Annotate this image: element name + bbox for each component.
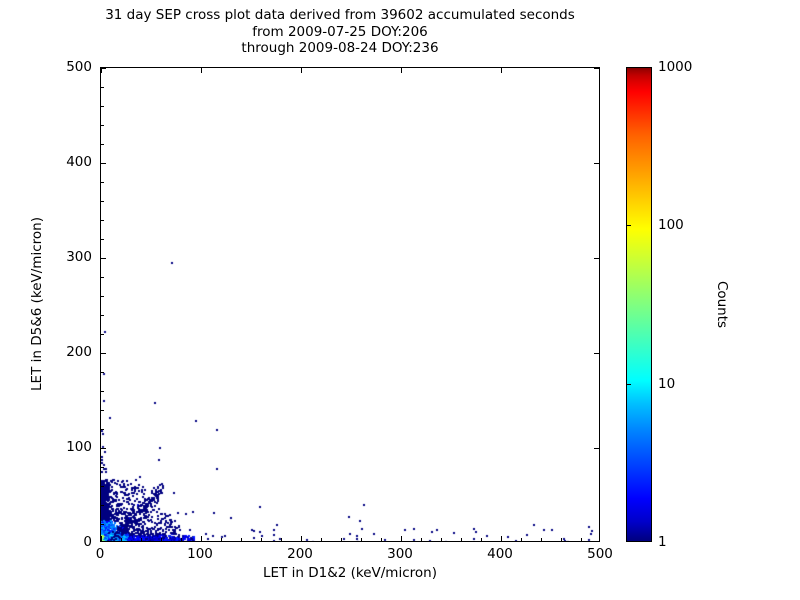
- x-tick-100: [201, 536, 202, 541]
- y-minor-tick: [101, 296, 104, 297]
- chart-title-line-3: through 2009-08-24 DOY:236: [0, 40, 680, 57]
- x-minor-tick: [481, 538, 482, 541]
- x-tick-400: [501, 536, 502, 541]
- y-minor-tick: [101, 315, 104, 316]
- x-tick-200: [301, 536, 302, 541]
- x-minor-tick: [421, 538, 422, 541]
- plot-axes[interactable]: [100, 67, 600, 542]
- x-minor-tick: [241, 538, 242, 541]
- scatter-plot-area: [101, 68, 600, 542]
- y-minor-tick: [101, 277, 104, 278]
- colorbar-tick-label-1000: 1000: [658, 59, 692, 75]
- y-minor-tick: [101, 524, 104, 525]
- colorbar-tick-10: [626, 384, 631, 385]
- chart-title-line-1: 31 day SEP cross plot data derived from …: [0, 7, 680, 24]
- x-minor-tick: [461, 538, 462, 541]
- colorbar-tick-1: [626, 541, 631, 542]
- x-tick-300: [401, 536, 402, 541]
- x-tick-label-500: 500: [587, 546, 613, 562]
- y-tick-100: [101, 448, 106, 449]
- x-tick-top-300: [401, 68, 402, 73]
- y-axis-label: LET in D5&6 (keV/micron): [29, 64, 45, 544]
- x-minor-tick: [321, 538, 322, 541]
- colorbar-tick-label-10: 10: [658, 376, 675, 392]
- x-minor-tick: [261, 538, 262, 541]
- y-minor-tick: [101, 87, 104, 88]
- x-minor-tick: [221, 538, 222, 541]
- y-minor-tick: [101, 201, 104, 202]
- chart-title-line-2: from 2009-07-25 DOY:206: [0, 24, 680, 41]
- y-tick-400: [101, 163, 106, 164]
- y-minor-tick: [101, 467, 104, 468]
- colorbar-label: Counts: [709, 67, 735, 542]
- y-minor-tick: [101, 106, 104, 107]
- colorbar[interactable]: 1101001000: [626, 67, 652, 542]
- x-minor-tick: [441, 538, 442, 541]
- y-minor-tick: [101, 410, 104, 411]
- colorbar-tick-100: [626, 225, 631, 226]
- x-minor-tick: [341, 538, 342, 541]
- y-minor-tick: [101, 220, 104, 221]
- y-minor-tick: [101, 429, 104, 430]
- x-tick-top-400: [501, 68, 502, 73]
- y-tick-right-300: [594, 258, 599, 259]
- x-minor-tick: [521, 538, 522, 541]
- x-minor-tick: [141, 538, 142, 541]
- figure-canvas: 31 day SEP cross plot data derived from …: [0, 0, 800, 600]
- x-tick-0: [101, 536, 102, 541]
- colorbar-tick-label-100: 100: [658, 217, 684, 233]
- y-minor-tick: [101, 334, 104, 335]
- y-tick-right-400: [594, 163, 599, 164]
- colorbar-tick-1000: [626, 67, 631, 68]
- y-minor-tick: [101, 391, 104, 392]
- y-minor-tick: [101, 144, 104, 145]
- x-tick-top-100: [201, 68, 202, 73]
- x-tick-label-100: 100: [187, 546, 213, 562]
- x-minor-tick: [561, 538, 562, 541]
- y-minor-tick: [101, 486, 104, 487]
- y-minor-tick: [101, 239, 104, 240]
- x-minor-tick: [181, 538, 182, 541]
- chart-title: 31 day SEP cross plot data derived from …: [0, 7, 680, 57]
- x-minor-tick: [281, 538, 282, 541]
- x-tick-label-0: 0: [96, 546, 105, 562]
- y-tick-300: [101, 258, 106, 259]
- x-axis-label: LET in D1&2 (keV/micron): [100, 565, 600, 581]
- y-tick-500: [101, 68, 106, 69]
- x-minor-tick: [581, 538, 582, 541]
- x-minor-tick: [361, 538, 362, 541]
- y-tick-right-200: [594, 353, 599, 354]
- colorbar-tick-label-1: 1: [658, 534, 667, 550]
- y-tick-200: [101, 353, 106, 354]
- x-tick-label-400: 400: [487, 546, 513, 562]
- y-tick-right-500: [594, 68, 599, 69]
- x-minor-tick: [161, 538, 162, 541]
- y-minor-tick: [101, 372, 104, 373]
- y-minor-tick: [101, 505, 104, 506]
- x-tick-label-200: 200: [287, 546, 313, 562]
- x-tick-top-200: [301, 68, 302, 73]
- x-tick-label-300: 300: [387, 546, 413, 562]
- y-minor-tick: [101, 182, 104, 183]
- y-minor-tick: [101, 125, 104, 126]
- y-tick-right-100: [594, 448, 599, 449]
- x-minor-tick: [121, 538, 122, 541]
- colorbar-gradient: [626, 67, 652, 542]
- x-minor-tick: [381, 538, 382, 541]
- x-minor-tick: [541, 538, 542, 541]
